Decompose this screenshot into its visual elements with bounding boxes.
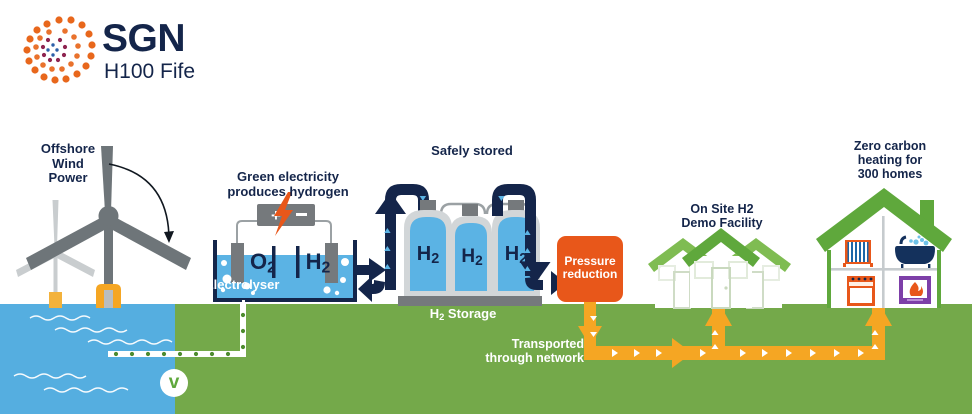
oxygen-label: O2: [240, 250, 286, 277]
transported-label: Transported through network: [468, 337, 584, 365]
sgn-logo[interactable]: SGN H100 Fife: [18, 14, 248, 90]
valve-marker-label: v: [160, 372, 188, 393]
zero-carbon-label: Zero carbon heating for 300 homes: [830, 139, 950, 181]
demo-facility-label: On Site H2 Demo Facility: [662, 202, 782, 230]
pressure-reduction-label: Pressure reduction: [557, 255, 623, 282]
h2-storage-label: H2 Storage: [400, 307, 526, 323]
tank-3-label: H2: [494, 243, 538, 267]
zero-carbon-house: [816, 188, 952, 308]
green-electricity-label: Green electricity produces hydrogen: [218, 170, 358, 199]
sgn-concentric-dots-logo-icon: [18, 14, 96, 86]
fireplace-icon: [899, 276, 931, 304]
tank-2-label: H2: [452, 246, 492, 268]
cooker-oven-icon: [847, 276, 875, 306]
sgn-wordmark: SGN: [102, 17, 185, 61]
project-name: H100 Fife: [104, 60, 195, 84]
sea-water: [0, 304, 175, 414]
offshore-wind-label: Offshore Wind Power: [8, 142, 128, 186]
demo-facility-houses: [648, 228, 791, 308]
tank-1-label: H2: [406, 243, 450, 267]
electrolyser-label: Electrolyser: [205, 278, 365, 293]
safely-stored-label: Safely stored: [399, 144, 545, 159]
radiator-icon: [843, 240, 873, 267]
hydrogen-label: H2: [295, 250, 341, 277]
infographic-canvas: +: [0, 0, 972, 414]
